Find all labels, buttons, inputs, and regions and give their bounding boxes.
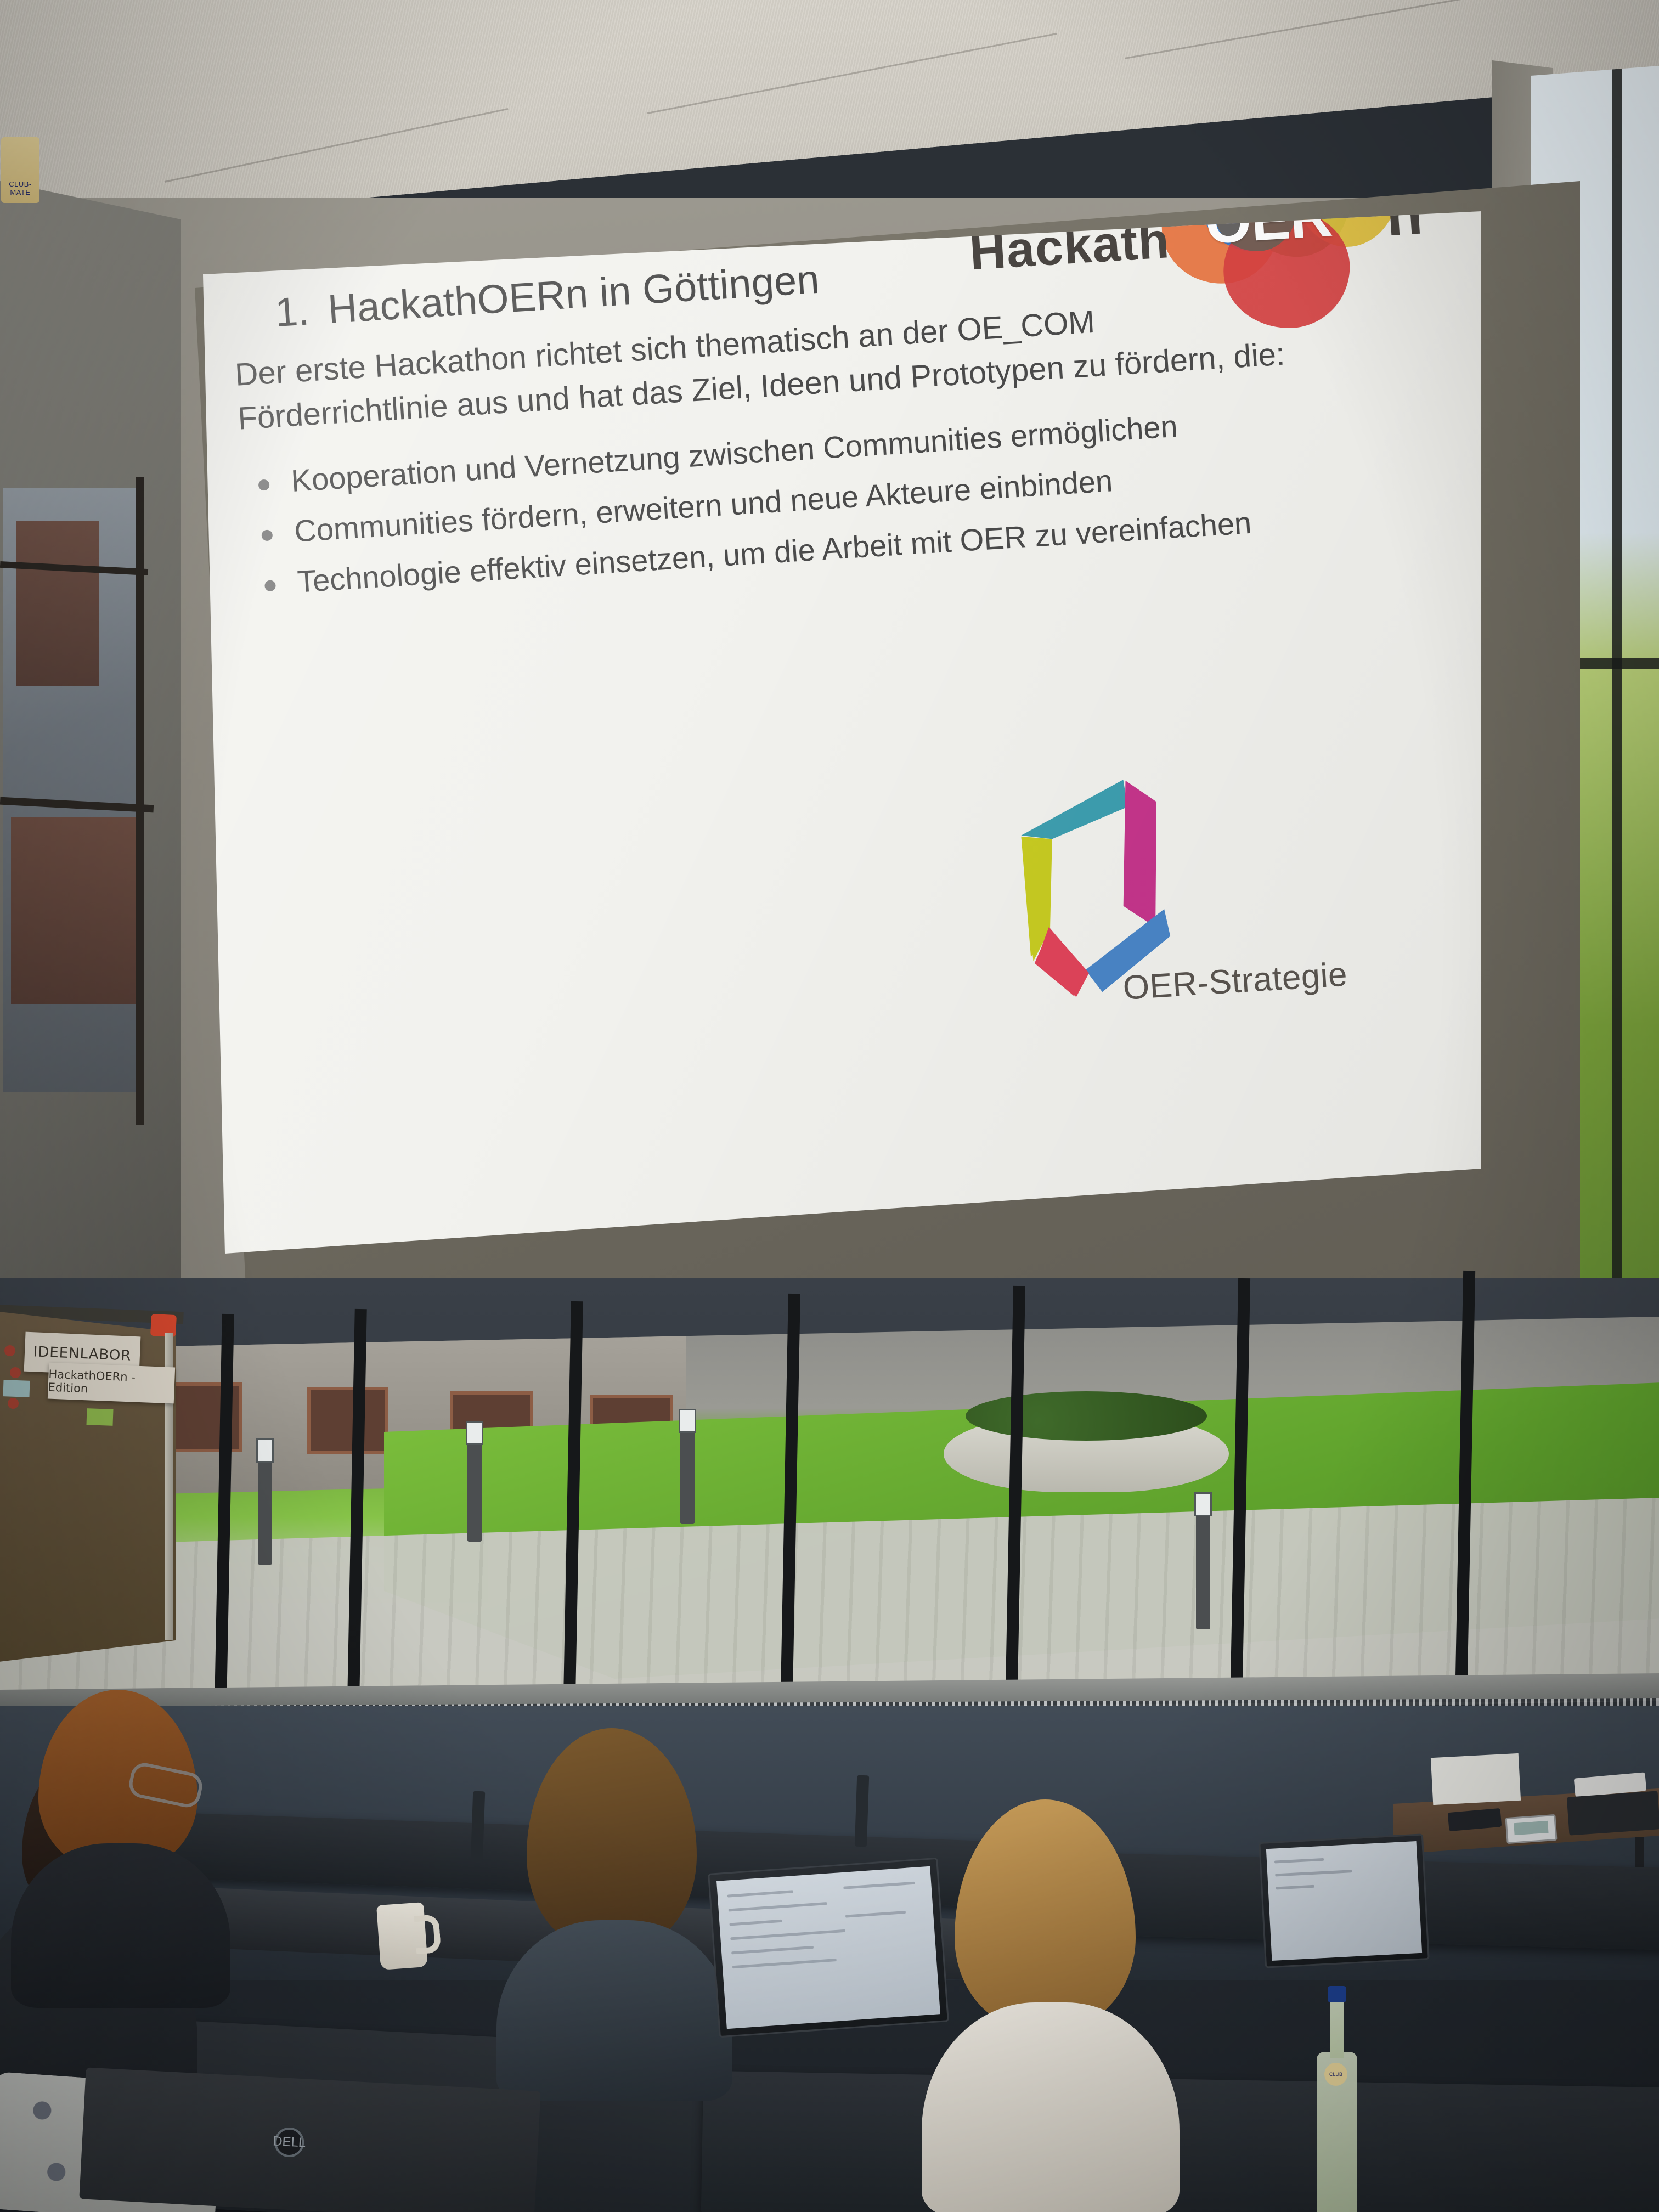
bollard-light: [467, 1421, 482, 1542]
pinboard-magnet: [8, 1398, 19, 1409]
slide-title-text: HackathOERn in Göttingen: [326, 256, 821, 332]
seat-divider: [471, 1791, 486, 1863]
dell-logo-icon: DELL: [274, 2127, 305, 2158]
building-window: [307, 1387, 388, 1454]
person-shoulders: [496, 1920, 732, 2101]
laptop-open[interactable]: [708, 1858, 949, 2038]
laptop-display: [1266, 1841, 1422, 1961]
left-window-reflection: [11, 817, 137, 1004]
courtyard-view: [0, 1317, 1659, 1734]
projected-slide: Hackath OER n 1.HackathOERn in Göttingen…: [203, 211, 1481, 1254]
bollard-light: [258, 1438, 272, 1565]
bollard-light: [680, 1409, 695, 1524]
desk-black-box: [1567, 1791, 1659, 1835]
dell-laptop-closed[interactable]: DELL: [79, 2067, 540, 2212]
laptop-display: [716, 1866, 940, 2029]
pinboard-magnet: [4, 1345, 15, 1356]
left-window-mullion: [136, 477, 144, 1125]
courtyard-planter: [944, 1415, 1229, 1492]
pinboard-sign-edition: HackathOERn - Edition: [48, 1363, 175, 1404]
bottle-neck: [1330, 1998, 1344, 2058]
slide-title-number: 1.: [274, 287, 311, 335]
bottle-cap: [1328, 1986, 1346, 2002]
bottle-neck-seal: CLUB: [1324, 2063, 1347, 2086]
bottle-label: CLUB-MATE: [1, 137, 39, 203]
coffee-mug[interactable]: [376, 1902, 428, 1970]
right-window-mullion: [1612, 66, 1622, 1437]
bollard-light: [1196, 1492, 1210, 1629]
person-shoulders: [922, 2002, 1180, 2212]
left-window-reflection: [16, 521, 99, 686]
laptop-open-right[interactable]: [1259, 1833, 1430, 1968]
oer-strategie-logo: OER-Strategie: [1007, 751, 1367, 1100]
left-wall: [0, 181, 181, 1311]
photo-scene: Hackath OER n 1.HackathOERn in Göttingen…: [0, 0, 1659, 2212]
pinboard-magnet: [10, 1367, 21, 1378]
control-panel[interactable]: [1505, 1814, 1557, 1844]
club-mate-bottle[interactable]: [1317, 1986, 1357, 2212]
person-shoulders: [11, 1843, 230, 2008]
seat-divider: [855, 1775, 870, 1847]
pinboard-sticky-note: [86, 1408, 113, 1426]
pinboard-sticky-note: [3, 1380, 30, 1397]
desk-paper-sheet: [1431, 1753, 1521, 1805]
seat-row-front-right: [701, 2071, 1659, 2212]
